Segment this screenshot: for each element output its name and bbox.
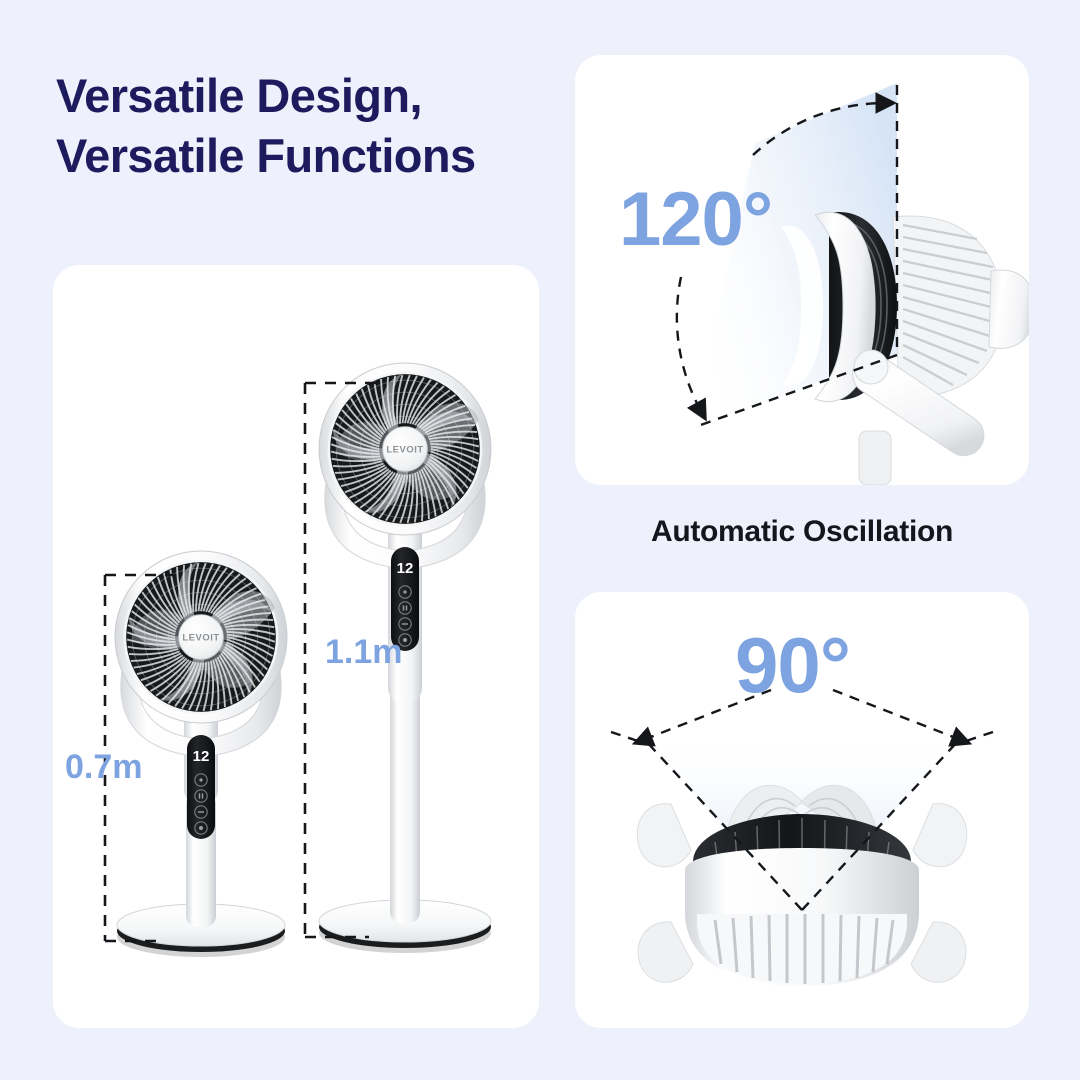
headline-line-1: Versatile Design, [56,69,422,122]
horizontal-angle-label: 90° [735,621,850,709]
size-comparison-card: 12 [53,265,539,1028]
oscillation-caption: Automatic Oscillation [575,515,1029,549]
brand-logo-short: LEVOIT [182,632,219,643]
size-comparison-illustration: 12 [53,265,539,1028]
vertical-angle-label: 120° [619,177,772,262]
vertical-oscillation-card: 120° [575,55,1029,485]
height-label-tall: 1.1m [325,633,403,671]
page-title: Versatile Design, Versatile Functions [56,66,576,186]
height-label-short: 0.7m [65,748,143,786]
fan-top-view [637,785,967,986]
infographic-page: Versatile Design, Versatile Functions [0,0,1080,1080]
vertical-oscillation-illustration: 120° [575,55,1029,485]
horizontal-oscillation-card: 90° [575,592,1029,1028]
horizontal-oscillation-illustration: 90° [575,592,1029,1028]
headline-line-2: Versatile Functions [56,126,576,186]
brand-logo-tall: LEVOIT [386,444,423,455]
control-panel-short [187,735,215,839]
